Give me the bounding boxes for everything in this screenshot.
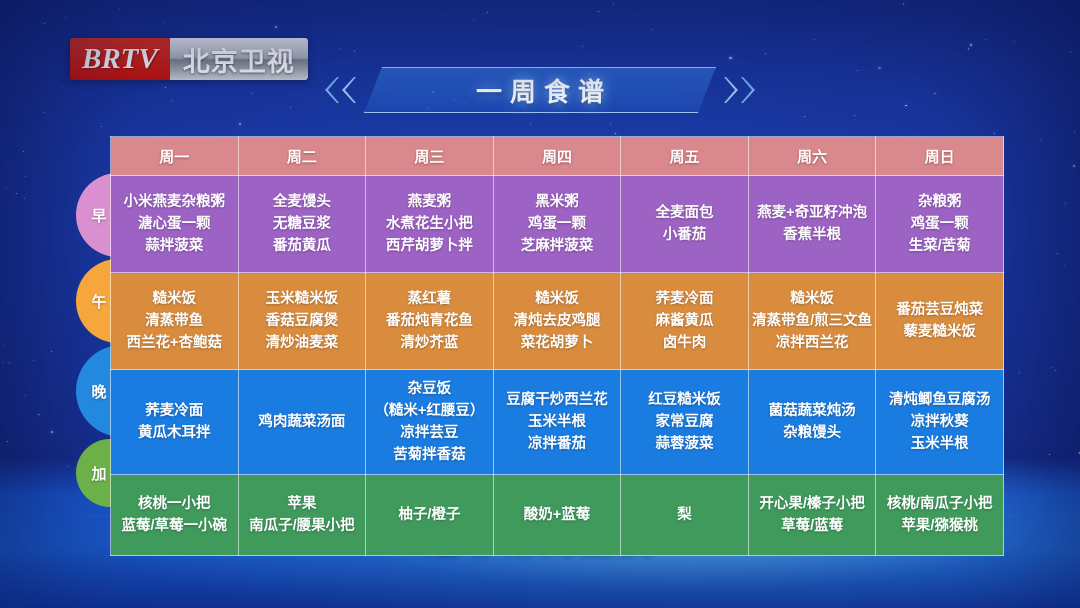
meal-item: 鸡肉蔬菜汤面: [242, 411, 363, 433]
meal-cell-breakfast-2[interactable]: 全麦馒头无糖豆浆番茄黄瓜: [238, 176, 366, 273]
star-dot: [934, 93, 936, 95]
star-dot: [290, 107, 291, 108]
meal-item: 家常豆腐: [624, 411, 745, 433]
star-dot: [25, 176, 26, 177]
channel-logo: BRTV 北京卫视: [70, 38, 308, 80]
channel-logo-name: 北京卫视: [170, 38, 308, 80]
meal-item: 西兰花+杏鲍菇: [114, 332, 235, 354]
meal-item: 蒸红薯: [369, 288, 490, 310]
star-dot: [354, 50, 355, 51]
star-dot: [23, 151, 24, 152]
star-dot: [51, 351, 53, 353]
day-header-3[interactable]: 周三: [366, 137, 494, 176]
title-hex-frame: 一周食谱: [364, 67, 716, 113]
meal-item: 玉米半根: [497, 411, 618, 433]
meal-cell-breakfast-4[interactable]: 黑米粥鸡蛋一颗芝麻拌菠菜: [493, 176, 621, 273]
chevron-left-icon: [341, 75, 356, 105]
meal-item: 清炖去皮鸡腿: [497, 310, 618, 332]
star-dot: [765, 53, 766, 54]
star-dot: [985, 39, 986, 40]
star-dot: [968, 48, 969, 49]
star-dot: [651, 29, 652, 30]
title-banner: 一周食谱: [324, 64, 756, 116]
day-header-4[interactable]: 周四: [493, 137, 621, 176]
star-dot: [172, 100, 173, 101]
meal-cell-breakfast-7[interactable]: 杂粮粥鸡蛋一颗生菜/苦菊: [876, 176, 1004, 273]
meal-cell-snack-7[interactable]: 核桃/南瓜子小把苹果/猕猴桃: [876, 475, 1004, 556]
star-dot: [804, 116, 805, 117]
star-dot: [2, 362, 3, 363]
meal-cell-dinner-6[interactable]: 菌菇蔬菜炖汤杂粮馒头: [748, 370, 876, 475]
star-dot: [613, 4, 614, 5]
star-dot: [598, 11, 599, 12]
meal-cell-snack-1[interactable]: 核桃一小把蓝莓/草莓一小碗: [111, 475, 239, 556]
meal-item: 玉米糙米饭: [242, 288, 363, 310]
weekly-menu-table: 周一周二周三周四周五周六周日 小米燕麦杂粮粥溏心蛋一颗蒜拌菠菜全麦馒头无糖豆浆番…: [110, 136, 1004, 556]
meal-item: 柚子/橙子: [369, 504, 490, 526]
star-dot: [38, 414, 39, 415]
meal-item: 燕麦+奇亚籽冲泡: [752, 202, 873, 224]
star-dot: [165, 87, 166, 88]
meal-item: 荞麦冷面: [114, 400, 235, 422]
star-dot: [51, 431, 53, 433]
day-header-1[interactable]: 周一: [111, 137, 239, 176]
chevron-right-icon: [741, 75, 756, 105]
star-dot: [1070, 51, 1071, 52]
star-dot: [67, 466, 68, 467]
star-dot: [44, 23, 45, 24]
meal-item: 玉米半根: [879, 433, 1000, 455]
table-header: 周一周二周三周四周五周六周日: [110, 137, 1004, 176]
meal-item: 杂豆饭: [369, 378, 490, 400]
meal-row-dinner: 荞麦冷面黄瓜木耳拌鸡肉蔬菜汤面杂豆饭（糙米+红腰豆）凉拌芸豆苦菊拌香菇豆腐干炒西…: [110, 370, 1004, 475]
star-dot: [878, 67, 881, 70]
channel-logo-abbr: BRTV: [70, 38, 170, 80]
meal-item: 凉拌番茄: [497, 433, 618, 455]
meal-cell-dinner-4[interactable]: 豆腐干炒西兰花玉米半根凉拌番茄: [493, 370, 621, 475]
meal-item: 蓝莓/草莓一小碗: [114, 515, 235, 537]
star-dot: [61, 87, 62, 88]
meal-item: 小米燕麦杂粮粥: [114, 191, 235, 213]
meal-item: 开心果/榛子小把: [752, 493, 873, 515]
meal-cell-dinner-5[interactable]: 红豆糙米饭家常豆腐蒜蓉菠菜: [621, 370, 749, 475]
star-dot: [1052, 367, 1053, 368]
meal-cell-snack-2[interactable]: 苹果南瓜子/腰果小把: [238, 475, 366, 556]
meal-cell-snack-6[interactable]: 开心果/榛子小把草莓/蓝莓: [748, 475, 876, 556]
star-dot: [582, 46, 583, 47]
meal-item: 无糖豆浆: [242, 213, 363, 235]
meal-item: 清蒸带鱼: [114, 310, 235, 332]
meal-item: 苹果: [242, 493, 363, 515]
meal-item: 草莓/蓝莓: [752, 515, 873, 537]
meal-cell-lunch-1[interactable]: 糙米饭清蒸带鱼西兰花+杏鲍菇: [111, 273, 239, 370]
star-dot: [1040, 139, 1041, 140]
meal-cell-lunch-7[interactable]: 番茄芸豆炖菜藜麦糙米饭: [876, 273, 1004, 370]
meal-item: 杂粮粥: [879, 191, 1000, 213]
meal-item: 麻酱黄瓜: [624, 310, 745, 332]
meal-cell-breakfast-5[interactable]: 全麦面包小番茄: [621, 176, 749, 273]
meal-cell-lunch-4[interactable]: 糙米饭清炖去皮鸡腿菜花胡萝卜: [493, 273, 621, 370]
meal-item: 苦菊拌香菇: [369, 444, 490, 466]
star-dot: [16, 193, 17, 194]
meal-cell-snack-3[interactable]: 柚子/橙子: [366, 475, 494, 556]
meal-item: 清炖鲫鱼豆腐汤: [879, 389, 1000, 411]
meal-item: 全麦馒头: [242, 191, 363, 213]
meal-item: 清蒸带鱼/煎三文鱼: [752, 310, 873, 332]
meal-item: 燕麦粥: [369, 191, 490, 213]
meal-item: 杂粮馒头: [752, 422, 873, 444]
star-dot: [1074, 131, 1075, 132]
meal-item: 香菇豆腐煲: [242, 310, 363, 332]
meal-item: 生菜/苦菊: [879, 235, 1000, 257]
meal-cell-snack-5[interactable]: 梨: [621, 475, 749, 556]
meal-item: 番茄黄瓜: [242, 235, 363, 257]
meal-cell-breakfast-3[interactable]: 燕麦粥水煮花生小把西芹胡萝卜拌: [366, 176, 494, 273]
page-title: 一周食谱: [468, 72, 612, 109]
star-dot: [729, 57, 732, 60]
star-dot: [119, 8, 120, 9]
meal-row-snack: 核桃一小把蓝莓/草莓一小碗苹果南瓜子/腰果小把柚子/橙子酸奶+蓝莓梨开心果/榛子…: [110, 475, 1004, 556]
star-dot: [65, 17, 66, 18]
meal-item: 番茄芸豆炖菜: [879, 299, 1000, 321]
meal-cell-dinner-1[interactable]: 荞麦冷面黄瓜木耳拌: [111, 370, 239, 475]
meal-item: 菜花胡萝卜: [497, 332, 618, 354]
meal-item: 南瓜子/腰果小把: [242, 515, 363, 537]
meal-item: 豆腐干炒西兰花: [497, 389, 618, 411]
tv-broadcast-frame: BRTV 北京卫视 一周食谱: [0, 0, 1080, 608]
star-dot: [9, 362, 10, 363]
table-header-row: 周一周二周三周四周五周六周日: [110, 137, 1004, 176]
meal-item: 卤牛肉: [624, 332, 745, 354]
meal-item: 凉拌西兰花: [752, 332, 873, 354]
star-dot: [610, 123, 611, 124]
meal-item: 梨: [624, 504, 745, 526]
meal-item: 番茄炖青花鱼: [369, 310, 490, 332]
star-dot: [44, 112, 45, 113]
star-dot: [1057, 253, 1058, 254]
star-dot: [1064, 265, 1065, 266]
star-dot: [1014, 41, 1015, 42]
day-header-2[interactable]: 周二: [238, 137, 366, 176]
meal-item: 黄瓜木耳拌: [114, 422, 235, 444]
meal-item: 溏心蛋一颗: [114, 213, 235, 235]
meal-cell-dinner-3[interactable]: 杂豆饭（糙米+红腰豆）凉拌芸豆苦菊拌香菇: [366, 370, 494, 475]
star-dot: [1065, 203, 1066, 204]
meal-item: （糙米+红腰豆）: [369, 400, 490, 422]
meal-cell-dinner-7[interactable]: 清炖鲫鱼豆腐汤凉拌秋葵玉米半根: [876, 370, 1004, 475]
meal-item: 苹果/猕猴桃: [879, 515, 1000, 537]
meal-cell-breakfast-1[interactable]: 小米燕麦杂粮粥溏心蛋一颗蒜拌菠菜: [111, 176, 239, 273]
star-dot: [163, 22, 164, 23]
meal-item: 清炒油麦菜: [242, 332, 363, 354]
meal-cell-breakfast-6[interactable]: 燕麦+奇亚籽冲泡香蕉半根: [748, 176, 876, 273]
meal-row-breakfast: 小米燕麦杂粮粥溏心蛋一颗蒜拌菠菜全麦馒头无糖豆浆番茄黄瓜燕麦粥水煮花生小把西芹胡…: [110, 176, 1004, 273]
star-dot: [994, 133, 995, 134]
star-dot: [854, 115, 855, 116]
meal-item: 鸡蛋一颗: [879, 213, 1000, 235]
star-dot: [339, 48, 340, 49]
star-dot: [239, 123, 241, 125]
meal-cell-dinner-2[interactable]: 鸡肉蔬菜汤面: [238, 370, 366, 475]
meal-cell-snack-4[interactable]: 酸奶+蓝莓: [493, 475, 621, 556]
meal-cell-lunch-3[interactable]: 蒸红薯番茄炖青花鱼清炒芥蓝: [366, 273, 494, 370]
chevron-right-group: [724, 75, 756, 105]
star-dot: [24, 198, 25, 199]
star-dot: [1049, 454, 1050, 455]
meal-cell-lunch-6[interactable]: 糙米饭清蒸带鱼/煎三文鱼凉拌西兰花: [748, 273, 876, 370]
day-header-7[interactable]: 周日: [876, 137, 1004, 176]
star-dot: [905, 105, 906, 106]
meal-item: 蒜蓉菠菜: [624, 433, 745, 455]
weekly-menu-table-wrap: 周一周二周三周四周五周六周日 小米燕麦杂粮粥溏心蛋一颗蒜拌菠菜全麦馒头无糖豆浆番…: [76, 136, 1004, 556]
meal-item: 核桃一小把: [114, 493, 235, 515]
meal-item: 黑米粥: [497, 191, 618, 213]
meal-cell-lunch-5[interactable]: 荞麦冷面麻酱黄瓜卤牛肉: [621, 273, 749, 370]
chevron-left-icon: [324, 75, 339, 105]
meal-item: 芝麻拌菠菜: [497, 235, 618, 257]
meal-item: 藜麦糙米饭: [879, 321, 1000, 343]
star-dot: [1019, 372, 1020, 373]
meal-item: 水煮花生小把: [369, 213, 490, 235]
star-dot: [251, 93, 252, 94]
meal-item: 糙米饭: [114, 288, 235, 310]
day-header-6[interactable]: 周六: [748, 137, 876, 176]
star-dot: [275, 26, 277, 28]
meal-item: 全麦面包: [624, 202, 745, 224]
chevron-right-icon: [724, 75, 739, 105]
meal-item: 蒜拌菠菜: [114, 235, 235, 257]
star-dot: [903, 3, 904, 4]
meal-item: 香蕉半根: [752, 224, 873, 246]
meal-item: 糙米饭: [497, 288, 618, 310]
meal-cell-lunch-2[interactable]: 玉米糙米饭香菇豆腐煲清炒油麦菜: [238, 273, 366, 370]
meal-item: 荞麦冷面: [624, 288, 745, 310]
meal-item: 鸡蛋一颗: [497, 213, 618, 235]
meal-item: 清炒芥蓝: [369, 332, 490, 354]
star-dot: [615, 133, 616, 134]
star-dot: [1073, 165, 1075, 167]
star-dot: [814, 39, 815, 40]
meal-item: 小番茄: [624, 224, 745, 246]
star-dot: [1055, 370, 1056, 371]
meal-item: 酸奶+蓝莓: [497, 504, 618, 526]
star-dot: [3, 345, 4, 346]
star-dot: [25, 395, 26, 396]
star-dot: [970, 44, 971, 45]
meal-item: 红豆糙米饭: [624, 389, 745, 411]
meal-item: 核桃/南瓜子小把: [879, 493, 1000, 515]
star-dot: [473, 19, 474, 20]
meal-item: 凉拌芸豆: [369, 422, 490, 444]
day-header-5[interactable]: 周五: [621, 137, 749, 176]
meal-item: 西芹胡萝卜拌: [369, 235, 490, 257]
star-dot: [101, 126, 102, 127]
star-dot: [487, 12, 488, 13]
star-dot: [530, 124, 531, 125]
star-dot: [33, 360, 34, 361]
meal-item: 糙米饭: [752, 288, 873, 310]
meal-item: 凉拌秋葵: [879, 411, 1000, 433]
star-dot: [6, 188, 7, 189]
chevron-left-group: [324, 75, 356, 105]
meal-row-lunch: 糙米饭清蒸带鱼西兰花+杏鲍菇玉米糙米饭香菇豆腐煲清炒油麦菜蒸红薯番茄炖青花鱼清炒…: [110, 273, 1004, 370]
star-dot: [857, 70, 858, 71]
star-dot: [7, 441, 8, 442]
table-body: 小米燕麦杂粮粥溏心蛋一颗蒜拌菠菜全麦馒头无糖豆浆番茄黄瓜燕麦粥水煮花生小把西芹胡…: [110, 176, 1004, 556]
meal-item: 菌菇蔬菜炖汤: [752, 400, 873, 422]
